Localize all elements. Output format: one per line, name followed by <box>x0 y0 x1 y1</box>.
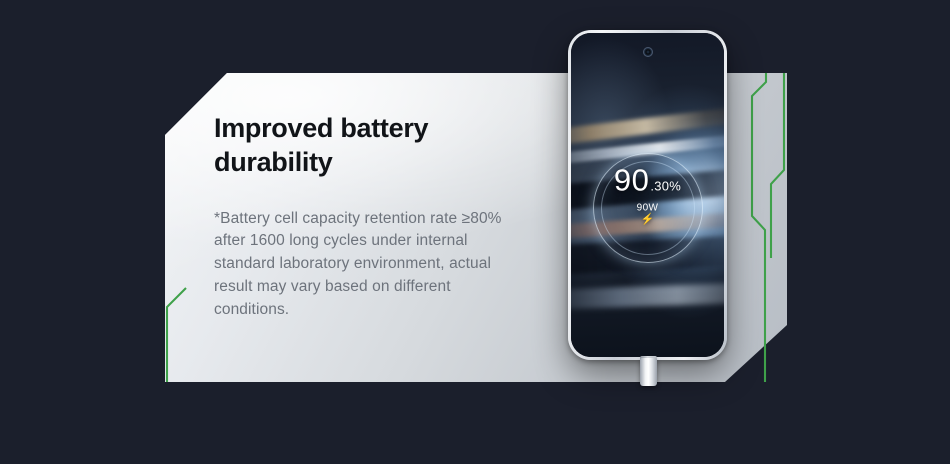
battery-percent-decimal: .30% <box>650 179 681 194</box>
camera-lens-dot <box>646 51 649 54</box>
disclaimer-text: *Battery cell capacity retention rate ≥8… <box>214 208 504 322</box>
text-block: Improved battery durability *Battery cel… <box>214 112 504 321</box>
phone-screen: 90 .30% 90W ⚡ <box>571 33 724 357</box>
usb-c-connector <box>640 358 657 386</box>
charging-wattage: 90W <box>571 203 724 214</box>
battery-percentage: 90 .30% <box>571 165 724 196</box>
lightning-bolt-icon: ⚡ <box>571 215 724 226</box>
battery-percent-main: 90 <box>614 165 649 196</box>
charging-status: 90 .30% 90W ⚡ <box>571 165 724 226</box>
promo-banner: Improved battery durability *Battery cel… <box>0 0 950 464</box>
phone-device: 90 .30% 90W ⚡ <box>568 30 727 360</box>
headline: Improved battery durability <box>214 112 504 180</box>
punch-hole-camera-icon <box>644 48 652 56</box>
